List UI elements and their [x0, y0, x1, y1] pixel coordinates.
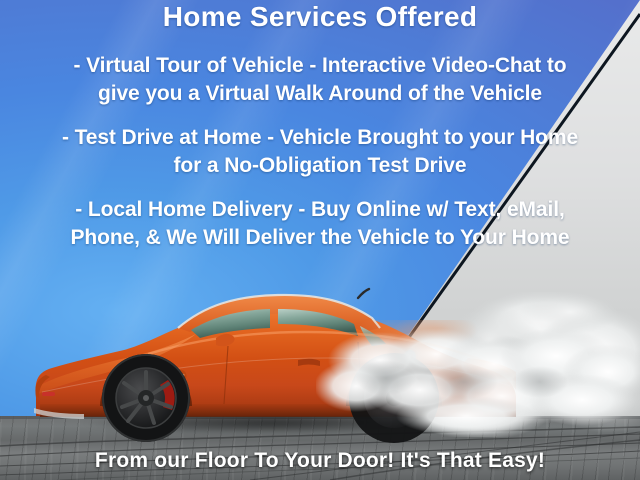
tagline: From our Floor To Your Door! It's That E… — [0, 449, 640, 473]
list-item: - Local Home Delivery - Buy Online w/ Te… — [0, 196, 640, 252]
list-item: - Test Drive at Home - Vehicle Brought t… — [0, 124, 640, 180]
list-item-line-1: - Local Home Delivery - Buy Online w/ Te… — [12, 196, 628, 224]
list-item-line-2: Phone, & We Will Deliver the Vehicle to … — [12, 224, 628, 252]
list-item-line-1: - Virtual Tour of Vehicle - Interactive … — [12, 52, 628, 80]
promo-banner: Home Services Offered - Virtual Tour of … — [0, 0, 640, 480]
list-item-line-2: give you a Virtual Walk Around of the Ve… — [12, 80, 628, 108]
page-title: Home Services Offered — [0, 1, 640, 33]
tire-smoke-cloud-front — [316, 320, 640, 440]
list-item-line-2: for a No-Obligation Test Drive — [12, 152, 628, 180]
list-item: - Virtual Tour of Vehicle - Interactive … — [0, 52, 640, 108]
services-list: - Virtual Tour of Vehicle - Interactive … — [0, 52, 640, 268]
list-item-line-1: - Test Drive at Home - Vehicle Brought t… — [12, 124, 628, 152]
front-wheel — [102, 354, 190, 442]
